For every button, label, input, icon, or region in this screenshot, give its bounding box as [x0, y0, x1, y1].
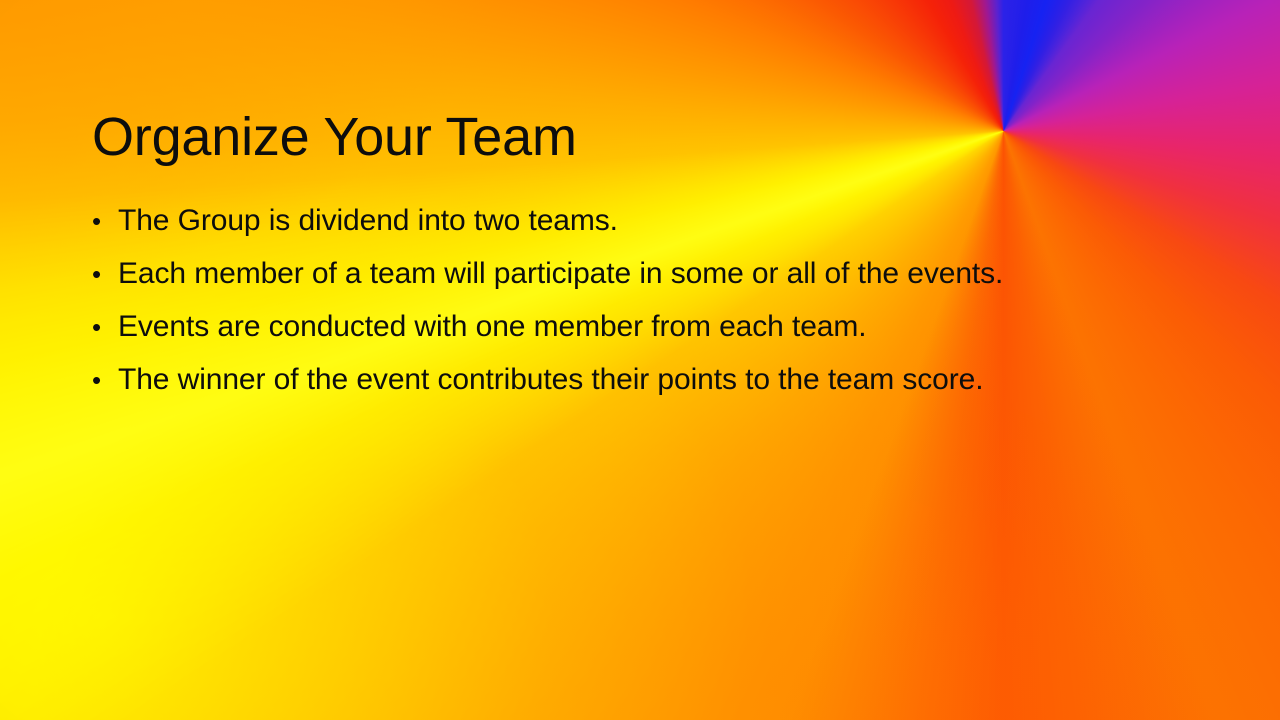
- list-item: • Each member of a team will participate…: [92, 247, 1212, 300]
- list-item: • Events are conducted with one member f…: [92, 300, 1212, 353]
- list-item: • The winner of the event contributes th…: [92, 353, 1212, 406]
- slide-title: Organize Your Team: [92, 108, 1192, 166]
- list-item-label: The winner of the event contributes thei…: [118, 353, 983, 406]
- bullet-icon: •: [92, 195, 118, 248]
- slide-canvas: Organize Your Team • The Group is divide…: [0, 0, 1280, 720]
- list-item: • The Group is dividend into two teams.: [92, 194, 1212, 247]
- list-item-label: Each member of a team will participate i…: [118, 247, 1003, 300]
- bullet-icon: •: [92, 248, 118, 301]
- bullet-icon: •: [92, 301, 118, 354]
- list-item-label: The Group is dividend into two teams.: [118, 194, 618, 247]
- list-item-label: Events are conducted with one member fro…: [118, 300, 867, 353]
- slide-bullet-list: • The Group is dividend into two teams. …: [92, 194, 1212, 406]
- bullet-icon: •: [92, 354, 118, 407]
